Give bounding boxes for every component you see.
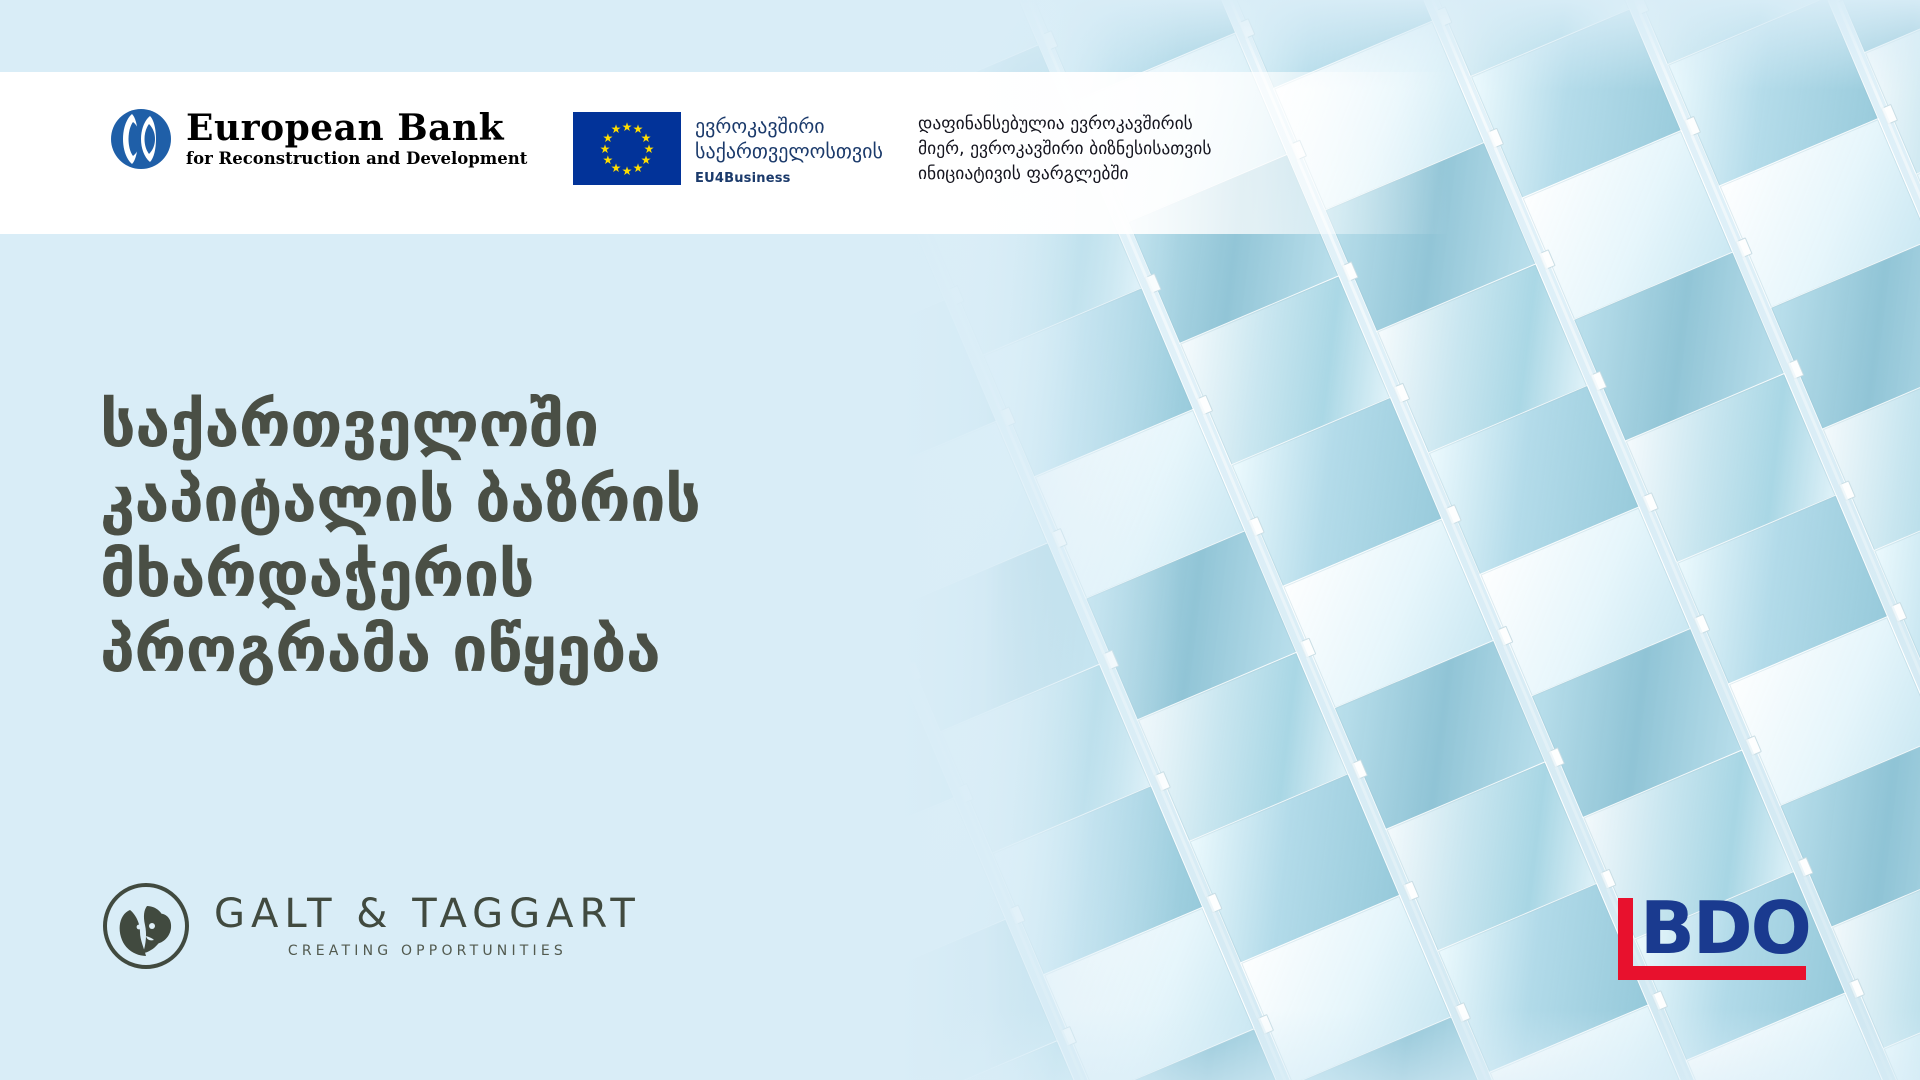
headline-line-4: პროგრამა იწყება <box>100 613 700 688</box>
european-union-flag-icon: ★★★★★★★★★★★★ <box>573 112 681 185</box>
headline: საქართველოში კაპიტალის ბაზრის მხარდაჭერი… <box>100 388 700 688</box>
funding-note-line3: ინიციატივის ფარგლებში <box>918 162 1298 187</box>
eu4business-label: EU4Business <box>695 171 883 186</box>
galt-taggart-name: GALT & TAGGART <box>214 894 641 934</box>
eu-line1: ევროკავშირი <box>695 114 883 139</box>
ebrd-wordmark: European Bank for Reconstruction and Dev… <box>186 110 527 168</box>
bdo-logo: BDO <box>1618 898 1818 980</box>
eu-star-icon: ★ <box>611 123 622 135</box>
eu-line2: საქართველოსთვის <box>695 139 883 164</box>
headline-line-3: მხარდაჭერის <box>100 538 700 613</box>
ebrd-logo: European Bank for Reconstruction and Dev… <box>110 108 527 170</box>
funding-note-line2: მიერ, ევროკავშირი ბიზნესისათვის <box>918 137 1298 162</box>
galt-taggart-tagline: CREATING OPPORTUNITIES <box>214 944 641 958</box>
bdo-wordmark: BDO <box>1640 892 1810 964</box>
eu-wordmark: ევროკავშირი საქართველოსთვის EU4Business <box>695 112 883 186</box>
ebrd-rings-icon <box>110 108 172 170</box>
headline-line-2: კაპიტალის ბაზრის <box>100 463 700 538</box>
eu-star-icon: ★ <box>633 162 644 174</box>
promotional-banner: European Bank for Reconstruction and Dev… <box>0 0 1920 1080</box>
funding-note: დაფინანსებულია ევროკავშირის მიერ, ევროკა… <box>918 112 1298 187</box>
galt-taggart-logo: GALT & TAGGART CREATING OPPORTUNITIES <box>100 880 641 972</box>
ebrd-name-line1: European Bank <box>186 110 527 146</box>
funding-note-line1: დაფინანსებულია ევროკავშირის <box>918 112 1298 137</box>
eu4business-logo: ★★★★★★★★★★★★ ევროკავშირი საქართველოსთვის… <box>573 112 883 186</box>
eu-star-icon: ★ <box>622 121 633 133</box>
ebrd-name-line2: for Reconstruction and Development <box>186 151 527 168</box>
photo-bottom-fade <box>900 1010 1920 1080</box>
galt-taggart-wordmark: GALT & TAGGART CREATING OPPORTUNITIES <box>214 894 641 958</box>
ram-head-icon <box>100 880 192 972</box>
eu-star-icon: ★ <box>622 165 633 177</box>
headline-line-1: საქართველოში <box>100 388 700 463</box>
